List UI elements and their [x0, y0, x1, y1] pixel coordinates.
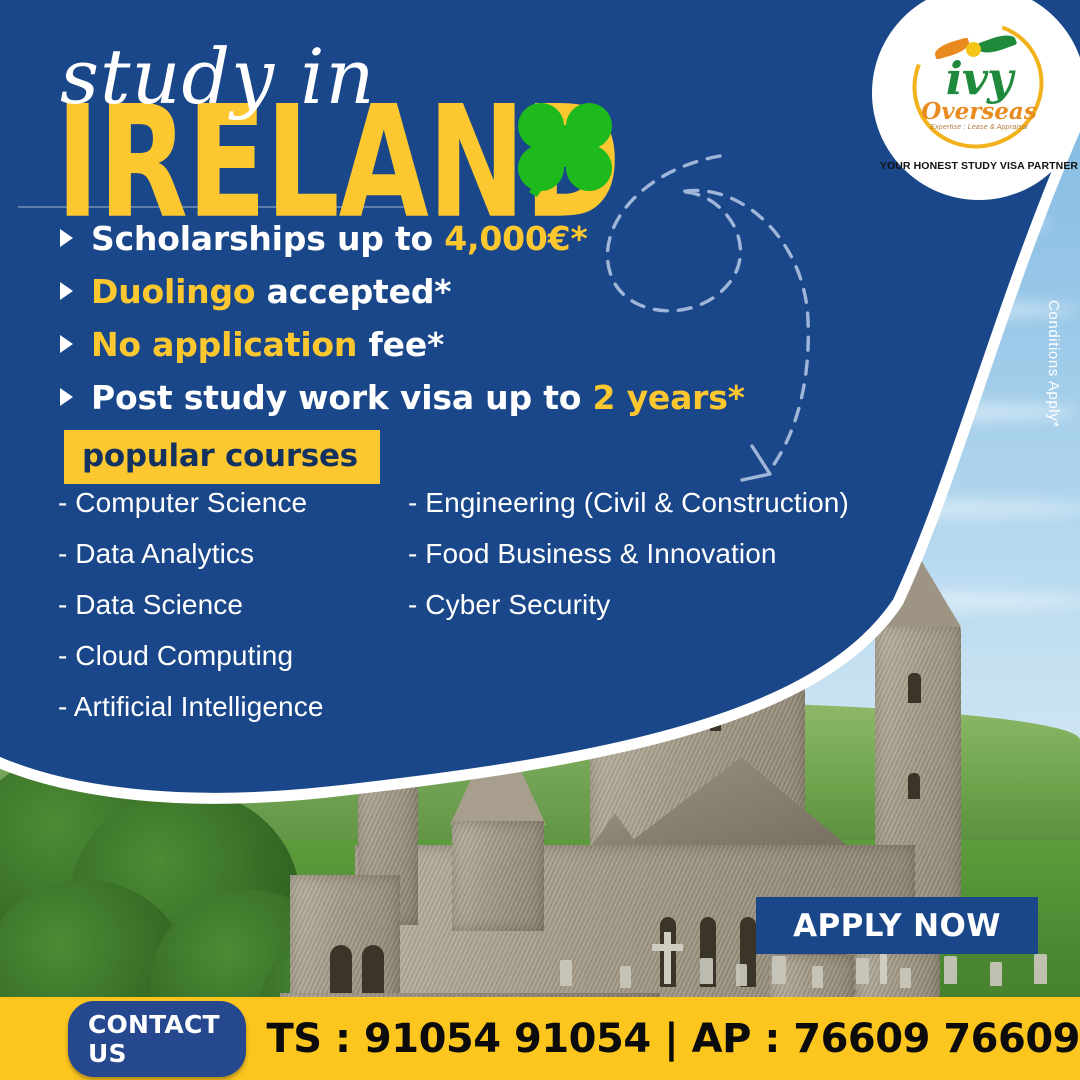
- apply-now-button[interactable]: APPLY NOW: [756, 897, 1038, 954]
- course-item: - Cyber Security: [408, 589, 849, 621]
- popular-courses-badge: popular courses: [64, 430, 380, 484]
- benefit-plain-after: fee*: [357, 325, 444, 364]
- headline-script: study in: [60, 32, 376, 121]
- benefit-highlight: Duolingo: [91, 272, 255, 311]
- contact-us-pill[interactable]: CONTACT US: [68, 1001, 246, 1077]
- benefit-row: No application fee*: [60, 318, 760, 370]
- conditions-apply-note: Conditions Apply*: [1045, 300, 1062, 428]
- contact-bar: CONTACT US TS : 91054 91054 | AP : 76609…: [0, 997, 1080, 1080]
- logo-tagline: YOUR HONEST STUDY VISA PARTNER: [880, 160, 1078, 172]
- ivy-overseas-logo[interactable]: ivy Overseas Expertise : Lease & Apprais…: [872, 0, 1080, 200]
- popular-courses-label: popular courses: [82, 438, 358, 474]
- benefit-text: Duolingo accepted*: [91, 272, 451, 311]
- benefit-text: No application fee*: [91, 325, 444, 364]
- four-leaf-clover-icon: [505, 96, 625, 202]
- course-item: - Data Science: [58, 589, 408, 621]
- benefit-text: Scholarships up to 4,000€*: [91, 219, 588, 258]
- benefit-highlight: No application: [91, 325, 357, 364]
- benefit-row: Post study work visa up to 2 years*: [60, 371, 760, 423]
- logo-mark: ivy Overseas Expertise : Lease & Apprais…: [904, 20, 1054, 152]
- benefit-plain-before: Scholarships up to: [91, 219, 444, 258]
- benefit-plain-after: accepted*: [255, 272, 451, 311]
- courses-right-column: - Engineering (Civil & Construction) - F…: [408, 487, 849, 742]
- study-in-ireland-poster: ivy Overseas Expertise : Lease & Apprais…: [0, 0, 1080, 1080]
- course-item: - Computer Science: [58, 487, 408, 519]
- courses-left-column: - Computer Science - Data Analytics - Da…: [58, 487, 408, 742]
- logo-micro-tagline: Expertise : Lease & Appraisal: [904, 124, 1054, 131]
- logo-subtitle: Overseas: [904, 98, 1054, 125]
- course-item: - Artificial Intelligence: [58, 691, 408, 723]
- bullet-triangle-icon: [60, 388, 73, 406]
- course-item: - Cloud Computing: [58, 640, 408, 672]
- benefit-row: Duolingo accepted*: [60, 265, 760, 317]
- logo-name: ivy: [904, 56, 1054, 101]
- course-item: - Engineering (Civil & Construction): [408, 487, 849, 519]
- contact-phone-numbers[interactable]: TS : 91054 91054 | AP : 76609 76609: [266, 1016, 1080, 1062]
- contact-us-label: CONTACT US: [88, 1010, 220, 1068]
- courses-lists: - Computer Science - Data Analytics - Da…: [58, 487, 938, 742]
- course-item: - Data Analytics: [58, 538, 408, 570]
- bullet-triangle-icon: [60, 229, 73, 247]
- apply-now-label: APPLY NOW: [793, 908, 1001, 944]
- benefits-list: Scholarships up to 4,000€* Duolingo acce…: [60, 212, 760, 424]
- benefit-highlight: 4,000€*: [444, 219, 587, 258]
- benefit-row: Scholarships up to 4,000€*: [60, 212, 760, 264]
- course-item: - Food Business & Innovation: [408, 538, 849, 570]
- benefit-text: Post study work visa up to 2 years*: [91, 378, 745, 417]
- bullet-triangle-icon: [60, 282, 73, 300]
- bullet-triangle-icon: [60, 335, 73, 353]
- benefit-plain-before: Post study work visa up to: [91, 378, 593, 417]
- benefit-highlight: 2 years*: [593, 378, 745, 417]
